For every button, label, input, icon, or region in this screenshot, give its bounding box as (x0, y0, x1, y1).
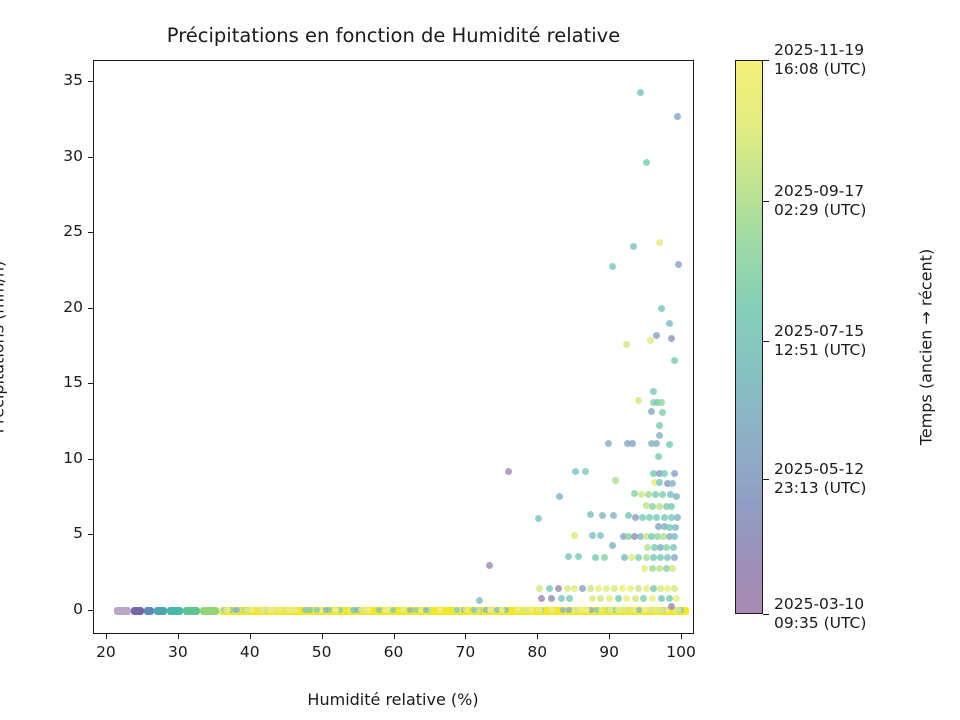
colorbar-tick-mark (763, 479, 769, 480)
scatter-point (647, 607, 653, 613)
scatter-point (671, 357, 678, 364)
colorbar (735, 60, 763, 614)
scatter-point (669, 565, 676, 572)
scatter-point (603, 585, 610, 592)
x-axis-label: Humidité relative (%) (307, 690, 478, 709)
scatter-point (621, 554, 628, 561)
scatter-point (463, 607, 469, 613)
scatter-point (656, 239, 663, 246)
scatter-point (582, 468, 589, 475)
x-tick-label: 40 (225, 643, 275, 661)
scatter-point (643, 554, 650, 561)
scatter-point (628, 554, 635, 561)
scatter-point (670, 544, 677, 551)
x-tick-label: 30 (153, 643, 203, 661)
scatter-point (580, 607, 586, 613)
scatter-point (659, 409, 666, 416)
y-tick-label: 10 (31, 449, 83, 467)
y-tick-label: 35 (31, 71, 83, 89)
scatter-point (643, 159, 650, 166)
scatter-point (658, 305, 665, 312)
scatter-point (536, 607, 542, 613)
y-tick-mark (88, 610, 93, 611)
zero-line-band-segment (200, 607, 219, 615)
scatter-point (587, 511, 594, 518)
scatter-point (652, 491, 659, 498)
x-tick-label: 80 (512, 643, 562, 661)
scatter-point (487, 607, 493, 613)
scatter-point (609, 542, 616, 549)
scatter-point (598, 607, 604, 613)
x-tick-label: 70 (440, 643, 490, 661)
scatter-point (486, 562, 493, 569)
scatter-point (529, 607, 535, 613)
colorbar-tick-label: 2025-11-1916:08 (UTC) (774, 41, 866, 78)
scatter-point (573, 607, 579, 613)
x-tick-label: 60 (369, 643, 419, 661)
scatter-point (637, 89, 644, 96)
figure: Précipitations en fonction de Humidité r… (0, 0, 960, 720)
zero-line-band-segment (144, 607, 154, 615)
scatter-point (597, 595, 604, 602)
scatter-point (607, 607, 613, 613)
scatter-point (538, 595, 545, 602)
scatter-point (669, 480, 676, 487)
scatter-point (628, 607, 634, 613)
scatter-point (476, 597, 483, 604)
scatter-point (536, 585, 543, 592)
scatter-point (505, 468, 512, 475)
scatter-point (287, 607, 293, 613)
scatter-point (661, 514, 668, 521)
x-tick-mark (537, 634, 538, 639)
scatter-point (635, 554, 642, 561)
scatter-point (259, 607, 265, 613)
zero-line-band-segment (167, 607, 184, 615)
scatter-point (673, 493, 680, 500)
scatter-point (666, 441, 673, 448)
scatter-point (277, 607, 283, 613)
scatter-point (656, 503, 663, 510)
x-tick-mark (681, 634, 682, 639)
y-tick-mark (88, 459, 93, 460)
y-tick-mark (88, 308, 93, 309)
scatter-point (305, 607, 311, 613)
colorbar-tick-mark (763, 60, 769, 61)
zero-line-band-segment (183, 607, 200, 615)
x-tick-mark (178, 634, 179, 639)
colorbar-tick-time: 16:08 (UTC) (774, 60, 866, 79)
colorbar-tick-date: 2025-11-19 (774, 41, 866, 60)
colorbar-tick-date: 2025-03-10 (774, 595, 866, 614)
scatter-point (605, 440, 612, 447)
colorbar-tick-mark (763, 201, 769, 202)
zero-line-band-segment (114, 607, 131, 615)
scatter-point (270, 607, 276, 613)
scatter-point (625, 512, 632, 519)
y-tick-label: 0 (31, 600, 83, 618)
scatter-point (548, 595, 555, 602)
scatter-point (579, 585, 586, 592)
scatter-point (601, 554, 608, 561)
y-tick-label: 15 (31, 373, 83, 391)
scatter-point (630, 243, 637, 250)
scatter-point (599, 512, 606, 519)
x-tick-mark (609, 634, 610, 639)
scatter-point (650, 554, 657, 561)
x-tick-mark (465, 634, 466, 639)
colorbar-tick-date: 2025-09-17 (774, 182, 866, 201)
scatter-point (664, 585, 671, 592)
scatter-point (609, 263, 616, 270)
y-tick-label: 5 (31, 524, 83, 542)
scatter-point (606, 595, 613, 602)
scatter-point (556, 493, 563, 500)
scatter-point (623, 341, 630, 348)
scatter-point (358, 607, 364, 613)
scatter-point (646, 514, 653, 521)
scatter-point (366, 607, 372, 613)
y-tick-label: 20 (31, 298, 83, 316)
scatter-point (249, 607, 255, 613)
scatter-point (234, 607, 240, 613)
y-tick-mark (88, 157, 93, 158)
scatter-point (640, 595, 647, 602)
scatter-point (592, 554, 599, 561)
scatter-point (673, 595, 680, 602)
y-tick-mark (88, 534, 93, 535)
page-title: Précipitations en fonction de Humidité r… (93, 24, 694, 47)
scatter-point (407, 607, 413, 613)
scatter-point (437, 607, 443, 613)
scatter-point (657, 554, 664, 561)
x-tick-label: 20 (81, 643, 131, 661)
scatter-point (674, 113, 681, 120)
x-tick-label: 100 (656, 643, 706, 661)
scatter-point (555, 585, 562, 592)
scatter-point (672, 524, 679, 531)
scatter-point (610, 512, 617, 519)
scatter-point (323, 607, 329, 613)
scatter-point (632, 595, 639, 602)
scatter-point (661, 470, 668, 477)
scatter-point (649, 595, 656, 602)
colorbar-tick-date: 2025-05-12 (774, 460, 866, 479)
scatter-point (671, 470, 678, 477)
scatter-point (615, 595, 622, 602)
y-tick-mark (88, 232, 93, 233)
scatter-point (666, 320, 673, 327)
scatter-point (587, 585, 594, 592)
scatter-point (653, 332, 660, 339)
scatter-point (641, 565, 648, 572)
scatter-point (638, 491, 645, 498)
colorbar-tick-label: 2025-09-1702:29 (UTC) (774, 182, 866, 219)
scatter-point (589, 532, 596, 539)
scatter-point (647, 337, 654, 344)
colorbar-tick-label: 2025-03-1009:35 (UTC) (774, 595, 866, 632)
scatter-point (668, 335, 675, 342)
scatter-point (635, 585, 642, 592)
scatter-point (671, 533, 678, 540)
scatter-point (549, 607, 555, 613)
colorbar-tick-mark (763, 341, 769, 342)
x-tick-mark (322, 634, 323, 639)
scatter-point (674, 514, 681, 521)
scatter-point (499, 607, 505, 613)
scatter-point (571, 585, 578, 592)
scatter-point (636, 607, 642, 613)
x-tick-label: 50 (297, 643, 347, 661)
scatter-point (671, 554, 678, 561)
zero-line-band-segment (131, 607, 144, 615)
scatter-point (623, 595, 630, 602)
scatter-point (535, 515, 542, 522)
scatter-point (635, 397, 642, 404)
y-tick-mark (88, 81, 93, 82)
scatter-point (558, 595, 565, 602)
scatter-point (293, 607, 299, 613)
scatter-point (522, 607, 528, 613)
scatter-point (632, 514, 639, 521)
scatter-point (656, 422, 663, 429)
scatter-point (668, 503, 675, 510)
scatter-point (639, 514, 646, 521)
y-tick-label: 25 (31, 222, 83, 240)
colorbar-tick-time: 09:35 (UTC) (774, 614, 866, 633)
x-tick-label: 90 (584, 643, 634, 661)
colorbar-tick-label: 2025-05-1223:13 (UTC) (774, 460, 866, 497)
scatter-point (659, 491, 666, 498)
scatter-point (622, 607, 628, 613)
scatter-point (650, 388, 657, 395)
scatter-point (595, 585, 602, 592)
scatter-point (627, 585, 634, 592)
scatter-point (653, 440, 660, 447)
x-tick-mark (250, 634, 251, 639)
scatter-point (546, 585, 553, 592)
scatter-point (575, 553, 582, 560)
x-tick-mark (106, 634, 107, 639)
scatter-point (657, 585, 664, 592)
scatter-point (566, 595, 573, 602)
scatter-point (664, 554, 671, 561)
scatter-point (648, 408, 655, 415)
scatter-point (643, 585, 650, 592)
scatter-point (616, 607, 622, 613)
colorbar-tick-time: 12:51 (UTC) (774, 341, 866, 360)
scatter-point (675, 261, 682, 268)
scatter-point (658, 399, 665, 406)
plot-area (93, 60, 694, 634)
scatter-point (565, 553, 572, 560)
y-axis-label: Précipitations (mm/h) (0, 261, 8, 434)
scatter-point (656, 479, 663, 486)
scatter-point (649, 565, 656, 572)
scatter-point (656, 432, 663, 439)
scatter-point (589, 595, 596, 602)
colorbar-tick-label: 2025-07-1512:51 (UTC) (774, 322, 866, 359)
scatter-point (619, 585, 626, 592)
scatter-point (564, 585, 571, 592)
y-tick-mark (88, 383, 93, 384)
scatter-point (671, 585, 678, 592)
scatter-point (653, 514, 660, 521)
scatter-points-layer (94, 61, 693, 633)
scatter-point (597, 532, 604, 539)
y-tick-label: 30 (31, 147, 83, 165)
scatter-point (655, 453, 662, 460)
scatter-point (629, 440, 636, 447)
scatter-point (645, 491, 652, 498)
scatter-point (659, 607, 665, 613)
zero-line-band-segment (154, 607, 166, 615)
x-tick-mark (394, 634, 395, 639)
scatter-point (611, 585, 618, 592)
colorbar-tick-time: 02:29 (UTC) (774, 201, 866, 220)
scatter-point (566, 607, 572, 613)
scatter-point (572, 468, 579, 475)
colorbar-tick-mark (763, 614, 769, 615)
scatter-point (658, 595, 665, 602)
colorbar-tick-date: 2025-07-15 (774, 322, 866, 341)
scatter-point (650, 585, 657, 592)
colorbar-label: Temps (ancien → récent) (917, 249, 936, 445)
scatter-point (644, 544, 651, 551)
colorbar-tick-time: 23:13 (UTC) (774, 479, 866, 498)
scatter-point (333, 607, 339, 613)
scatter-point (612, 477, 619, 484)
scatter-point (571, 532, 578, 539)
